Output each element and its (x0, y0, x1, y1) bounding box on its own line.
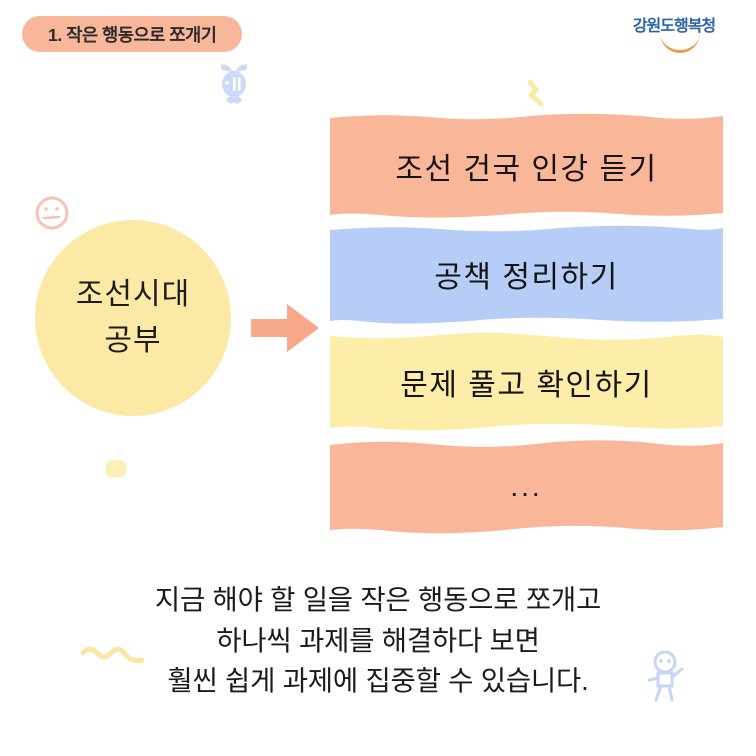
caption-line-2: 하나씩 과제를 해결하다 보면 (0, 621, 756, 662)
smile-curve-icon (660, 33, 700, 53)
step-item: ... (330, 439, 723, 535)
smiley-face-icon (32, 193, 72, 233)
step-item: 공책 정리하기 (330, 224, 723, 324)
brand-logo: 강원도행복청 (608, 10, 740, 54)
step-label: 공책 정리하기 (434, 252, 618, 296)
bee-icon (212, 60, 256, 110)
caption-block: 지금 해야 할 일을 작은 행동으로 쪼개고 하나씩 과제를 해결하다 보면 훨… (0, 580, 756, 702)
infographic-card: 1. 작은 행동으로 쪼개기 강원도행복청 (0, 0, 756, 756)
rounded-square-icon (104, 458, 128, 480)
arrow-right-icon (249, 300, 321, 356)
step-label: 조선 건국 인강 듣기 (395, 144, 657, 188)
source-circle: 조선시대 공부 (35, 220, 231, 416)
step-item: 조선 건국 인강 듣기 (330, 113, 723, 218)
step-list: 조선 건국 인강 듣기 공책 정리하기 문제 풀고 확인하기 ... (330, 113, 723, 535)
caption-line-1: 지금 해야 할 일을 작은 행동으로 쪼개고 (0, 580, 756, 621)
step-item: 문제 풀고 확인하기 (330, 332, 723, 432)
section-title-text: 1. 작은 행동으로 쪼개기 (48, 22, 216, 47)
caption-line-3: 훨씬 쉽게 과제에 집중할 수 있습니다. (0, 661, 756, 702)
section-title-badge: 1. 작은 행동으로 쪼개기 (22, 16, 242, 52)
step-label: 문제 풀고 확인하기 (400, 360, 652, 404)
zigzag-icon (524, 76, 558, 110)
step-label: ... (510, 471, 542, 503)
source-circle-line-2: 공부 (104, 318, 161, 365)
source-circle-line-1: 조선시대 (76, 272, 190, 319)
